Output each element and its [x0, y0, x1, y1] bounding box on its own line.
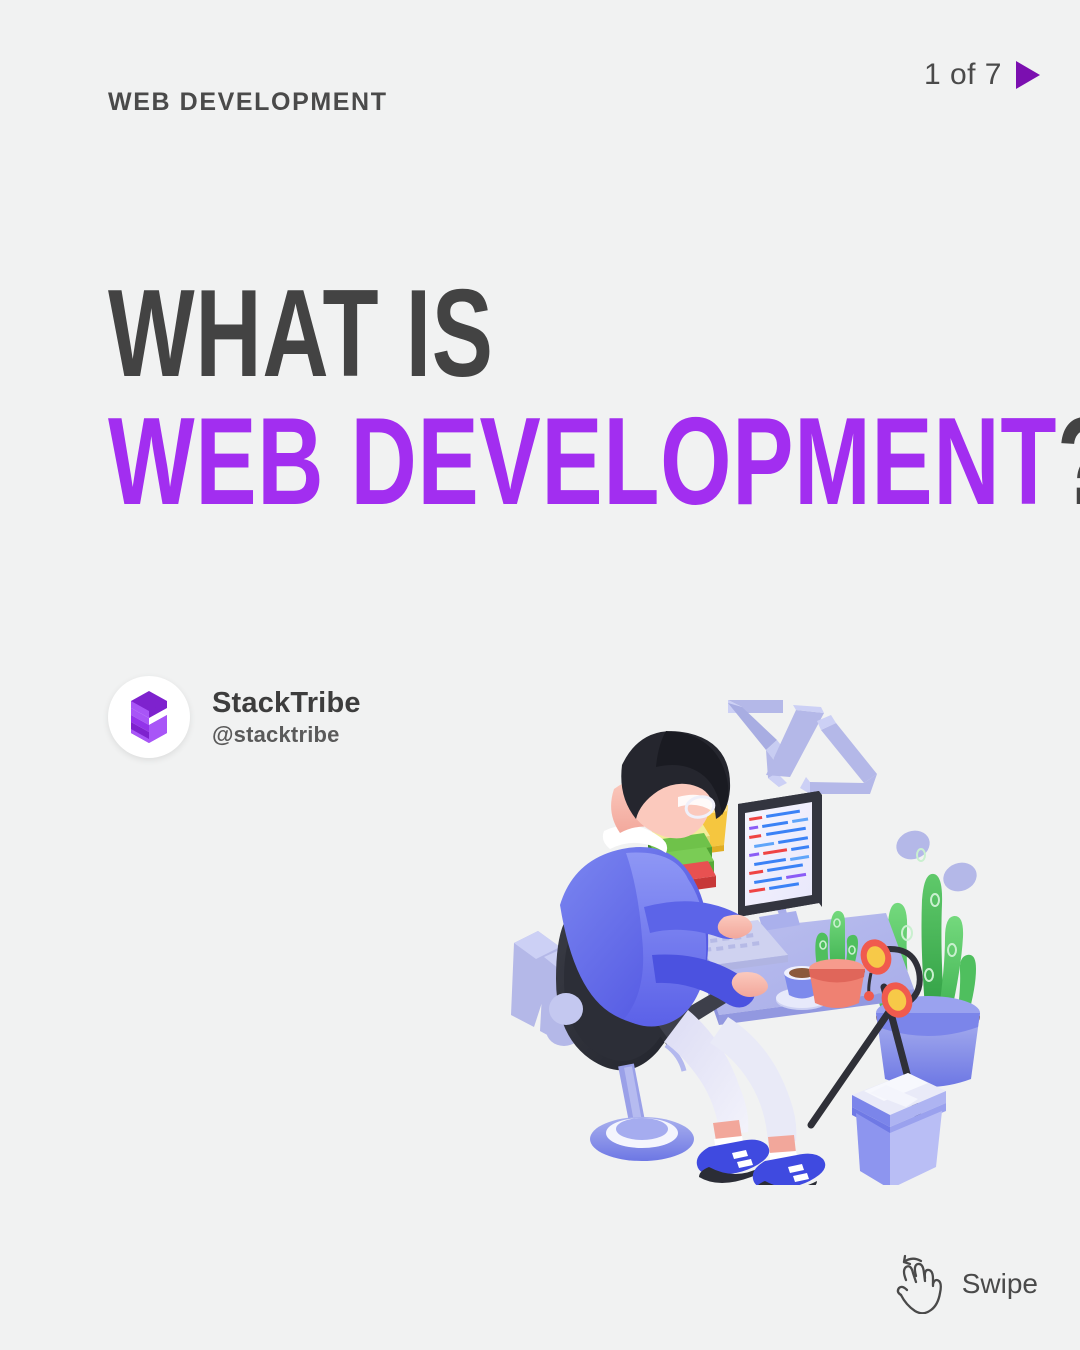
trash-bin	[852, 1073, 946, 1185]
slide-counter-text: 1 of 7	[924, 58, 1002, 92]
brand-text: StackTribe @stacktribe	[212, 687, 361, 748]
stacktribe-s-logo-icon	[123, 689, 175, 745]
headline-accent-text: WEB DEVELOPMENT	[108, 393, 1057, 531]
headline: WHAT IS WEB DEVELOPMENT?	[108, 276, 1080, 522]
monitor-with-code	[738, 791, 822, 931]
brand-block: StackTribe @stacktribe	[108, 676, 361, 758]
avatar[interactable]	[108, 676, 190, 758]
headline-question-mark: ?	[1057, 393, 1080, 531]
swipe-indicator[interactable]: Swipe	[890, 1254, 1038, 1314]
headline-line-2: WEB DEVELOPMENT?	[108, 404, 1080, 522]
code-tag-symbol	[728, 700, 877, 794]
brand-handle: @stacktribe	[212, 722, 361, 748]
headline-line-1: WHAT IS	[108, 276, 1080, 394]
page-title: WEB DEVELOPMENT	[108, 88, 388, 117]
swipe-label: Swipe	[962, 1268, 1038, 1300]
isometric-developer-illustration	[466, 655, 1036, 1185]
play-triangle-icon[interactable]	[1016, 61, 1040, 89]
swipe-hand-icon	[890, 1254, 948, 1314]
slide-counter: 1 of 7	[924, 58, 1040, 92]
brand-name: StackTribe	[212, 687, 361, 720]
